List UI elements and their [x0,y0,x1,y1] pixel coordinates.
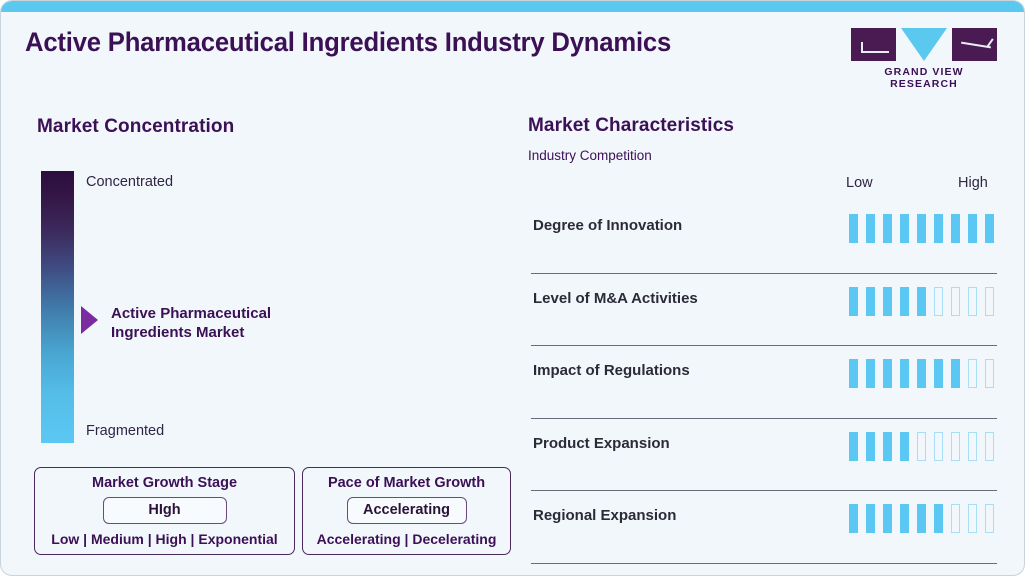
meter-segment-filled [900,432,909,461]
growth-pace-options: Accelerating | Decelerating [303,531,510,547]
characteristic-label: Regional Expansion [533,507,676,524]
characteristic-meter [849,214,994,243]
infographic-canvas: Active Pharmaceutical Ingredients Indust… [0,0,1025,576]
meter-segment-filled [900,287,909,316]
pace-of-market-growth-card: Pace of Market Growth Accelerating Accel… [302,467,511,555]
meter-segment-filled [917,287,926,316]
meter-segment-filled [866,432,875,461]
meter-segment-filled [849,359,858,388]
market-characteristics-heading: Market Characteristics [528,115,734,137]
meter-segment-empty [985,359,994,388]
top-accent-bar [1,1,1025,12]
meter-scale-high-label: High [958,175,988,191]
meter-segment-filled [968,214,977,243]
meter-segment-filled [849,504,858,533]
characteristic-row: Degree of Innovation [531,201,997,274]
meter-segment-empty [968,287,977,316]
brand-logo: GRAND VIEW RESEARCH [850,28,998,90]
scale-label-concentrated: Concentrated [86,174,173,190]
meter-segment-filled [900,214,909,243]
meter-segment-filled [934,214,943,243]
meter-segment-filled [883,504,892,533]
characteristic-meter [849,287,994,316]
meter-segment-filled [917,359,926,388]
characteristic-label: Product Expansion [533,435,670,452]
meter-segment-filled [985,214,994,243]
market-concentration-heading: Market Concentration [37,116,234,138]
meter-segment-empty [968,504,977,533]
meter-segment-filled [917,214,926,243]
logo-left-box-icon [851,28,896,61]
growth-pace-heading: Pace of Market Growth [303,475,510,491]
meter-segment-filled [883,214,892,243]
page-title: Active Pharmaceutical Ingredients Indust… [25,27,671,58]
meter-segment-filled [849,287,858,316]
meter-scale-low-label: Low [846,175,873,191]
meter-segment-filled [849,214,858,243]
meter-segment-filled [883,359,892,388]
market-position-pointer-icon [81,306,98,334]
growth-pace-value: Accelerating [347,497,467,524]
market-growth-stage-card: Market Growth Stage HIgh Low | Medium | … [34,467,295,555]
meter-segment-filled [866,359,875,388]
growth-stage-options: Low | Medium | High | Exponential [35,531,294,547]
meter-segment-empty [985,432,994,461]
meter-segment-empty [985,287,994,316]
meter-segment-empty [934,432,943,461]
characteristic-row: Impact of Regulations [531,346,997,419]
characteristic-meter [849,432,994,461]
characteristic-meter [849,504,994,533]
characteristic-label: Degree of Innovation [533,217,682,234]
characteristic-row: Level of M&A Activities [531,274,997,347]
characteristic-row: Product Expansion [531,419,997,492]
meter-segment-filled [900,359,909,388]
meter-segment-filled [866,214,875,243]
meter-segment-empty [934,287,943,316]
meter-segment-filled [883,287,892,316]
characteristic-row: Regional Expansion [531,491,997,564]
logo-triangle-icon [901,28,947,61]
market-position-label: Active Pharmaceutical Ingredients Market [111,304,311,342]
concentration-gradient-scale [41,171,74,443]
growth-stage-heading: Market Growth Stage [35,475,294,491]
meter-segment-empty [985,504,994,533]
market-characteristics-subheading: Industry Competition [528,148,652,163]
meter-segment-empty [951,287,960,316]
meter-segment-filled [934,504,943,533]
meter-segment-filled [900,504,909,533]
characteristic-meter [849,359,994,388]
logo-wordmark: GRAND VIEW RESEARCH [850,66,998,90]
meter-segment-empty [951,504,960,533]
meter-segment-filled [934,359,943,388]
meter-segment-empty [968,359,977,388]
meter-segment-filled [951,214,960,243]
meter-segment-filled [866,504,875,533]
scale-label-fragmented: Fragmented [86,423,164,439]
meter-segment-filled [883,432,892,461]
meter-segment-filled [951,359,960,388]
characteristic-label: Level of M&A Activities [533,290,698,307]
logo-marks [850,28,998,61]
meter-segment-filled [866,287,875,316]
meter-segment-empty [917,432,926,461]
growth-stage-value: HIgh [103,497,227,524]
meter-segment-empty [968,432,977,461]
meter-segment-filled [849,432,858,461]
market-characteristics-rows: Degree of InnovationLevel of M&A Activit… [531,201,997,564]
meter-segment-filled [917,504,926,533]
meter-segment-empty [951,432,960,461]
logo-right-box-icon [952,28,997,61]
characteristic-label: Impact of Regulations [533,362,690,379]
